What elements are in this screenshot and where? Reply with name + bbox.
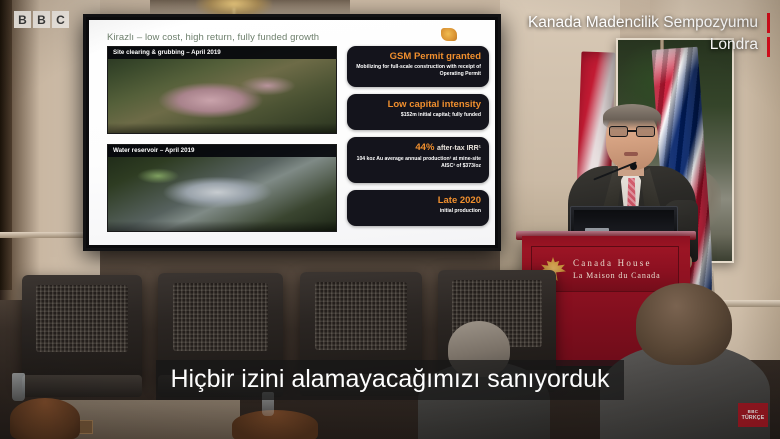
- slide-photo-caption: Site clearing & grubbing – April 2019: [108, 47, 336, 59]
- slide: Kirazlı – low cost, high return, fully f…: [89, 20, 495, 245]
- bbc-logo-letter: B: [14, 11, 31, 28]
- speaker-mouth: [624, 152, 638, 156]
- highlight-detail: 104 koz Au average annual production² at…: [355, 156, 481, 169]
- title-accent-bar: [767, 37, 770, 57]
- slide-highlight-capital: Low capital intensity $152m initial capi…: [347, 94, 489, 130]
- podium-sign-text: Canada House La Maison du Canada: [573, 258, 661, 280]
- bbc-logo-letter: B: [33, 11, 50, 28]
- speaker-glasses: [608, 126, 656, 138]
- presentation-screen: Kirazlı – low cost, high return, fully f…: [83, 14, 501, 251]
- slide-highlight-permit: GSM Permit granted Mobilizing for full-s…: [347, 46, 489, 87]
- podium-sign-line1: Canada House: [573, 258, 661, 268]
- highlight-detail: Mobilizing for full-scale construction w…: [355, 64, 481, 77]
- bbc-turkce-watermark: BBC TÜRKÇE: [738, 403, 768, 427]
- wall-edge-trim: [0, 0, 12, 290]
- bbc-logo-letter: C: [52, 11, 69, 28]
- side-table: [232, 410, 318, 439]
- highlight-detail: initial production: [355, 208, 481, 215]
- audience-member-head: [636, 283, 732, 365]
- highlight-headline-value: 44%: [415, 142, 434, 153]
- chair-back-pattern: [173, 283, 268, 351]
- chair-back-pattern: [36, 285, 127, 352]
- slide-photo-site-clearing: Site clearing & grubbing – April 2019: [107, 46, 337, 134]
- company-logo-icon: [441, 28, 457, 41]
- video-frame: Kirazlı – low cost, high return, fully f…: [0, 0, 780, 439]
- side-table: [10, 398, 80, 439]
- slide-photo-caption: Water reservoir – April 2019: [108, 145, 336, 157]
- highlight-headline: 44% after-tax IRR¹: [355, 142, 481, 154]
- highlight-headline-suffix: after-tax IRR¹: [437, 145, 481, 152]
- title-accent-bar: [767, 13, 770, 33]
- slide-title: Kirazlı – low cost, high return, fully f…: [107, 32, 319, 43]
- slide-highlight-irr: 44% after-tax IRR¹ 104 koz Au average an…: [347, 137, 489, 183]
- watermark-line2: TÜRKÇE: [742, 415, 765, 421]
- chair-back-pattern: [315, 282, 408, 350]
- subtitle-band: Hiçbir izini alamayacağımızı sanıyorduk: [0, 360, 780, 400]
- photo-gradient: [108, 221, 336, 231]
- highlight-headline: Late 2020: [355, 195, 481, 206]
- microphone-icon: [630, 163, 637, 170]
- slide-highlight-production: Late 2020 initial production: [347, 190, 489, 226]
- podium-sign-line2: La Maison du Canada: [573, 271, 661, 280]
- highlight-detail: $152m initial capital; fully funded: [355, 112, 481, 119]
- event-title-overlay: Kanada Madencilik Sempozyumu Londra: [528, 12, 758, 56]
- slide-photo-water-reservoir: Water reservoir – April 2019: [107, 144, 337, 232]
- photo-gradient: [108, 123, 336, 133]
- event-title-line2: Londra: [528, 34, 758, 56]
- bbc-logo: B B C: [14, 11, 69, 28]
- event-title-line1: Kanada Madencilik Sempozyumu: [528, 12, 758, 34]
- highlight-headline: Low capital intensity: [355, 99, 481, 110]
- highlight-headline: GSM Permit granted: [355, 51, 481, 62]
- subtitle-text: Hiçbir izini alamayacağımızı sanıyorduk: [156, 360, 623, 400]
- watermark-line1: BBC: [748, 409, 759, 414]
